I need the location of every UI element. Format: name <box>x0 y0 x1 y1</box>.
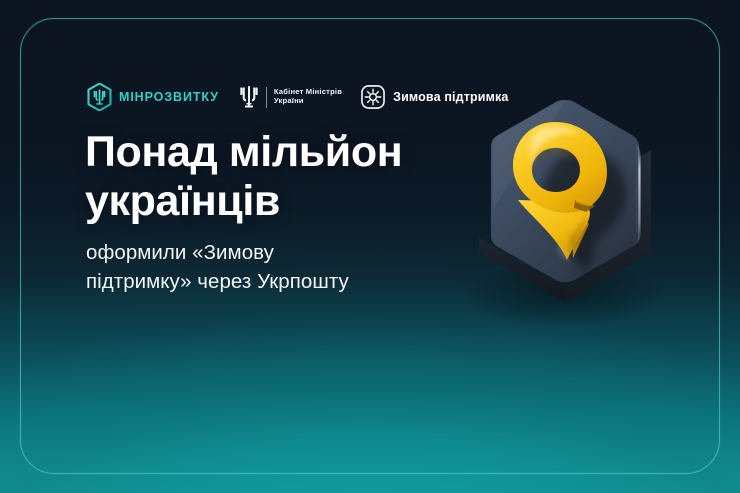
headline-line-1: Понад мільйон <box>85 128 465 177</box>
promo-banner: МІНРОЗВИТКУ Кабінет Міністрів України <box>0 0 740 493</box>
hexagon-3d-illustration <box>443 88 688 328</box>
logo-minrozvytku-label: МІНРОЗВИТКУ <box>119 90 219 104</box>
logo-cabinet-labels: Кабінет Міністрів України <box>274 88 342 106</box>
headline-line-2: українців <box>85 177 465 226</box>
page-title: Понад мільйон українців <box>85 128 465 225</box>
subhead-line-2: підтримку» через Укрпошту <box>86 267 436 296</box>
snowflake-icon <box>361 85 385 109</box>
logo-divider <box>266 87 267 108</box>
hexagon-trident-icon <box>87 83 112 111</box>
subhead-line-1: оформили «Зимову <box>86 238 436 267</box>
ukrposhta-pin-hexagon-3d <box>443 88 688 328</box>
logo-cabinet-of-ministers: Кабінет Міністрів України <box>238 84 342 110</box>
page-subtitle: оформили «Зимову підтримку» через Укрпош… <box>86 238 436 297</box>
logo-cabinet-line2: України <box>274 97 342 106</box>
logo-minrozvytku: МІНРОЗВИТКУ <box>87 83 219 111</box>
ukraine-trident-icon <box>238 84 260 110</box>
